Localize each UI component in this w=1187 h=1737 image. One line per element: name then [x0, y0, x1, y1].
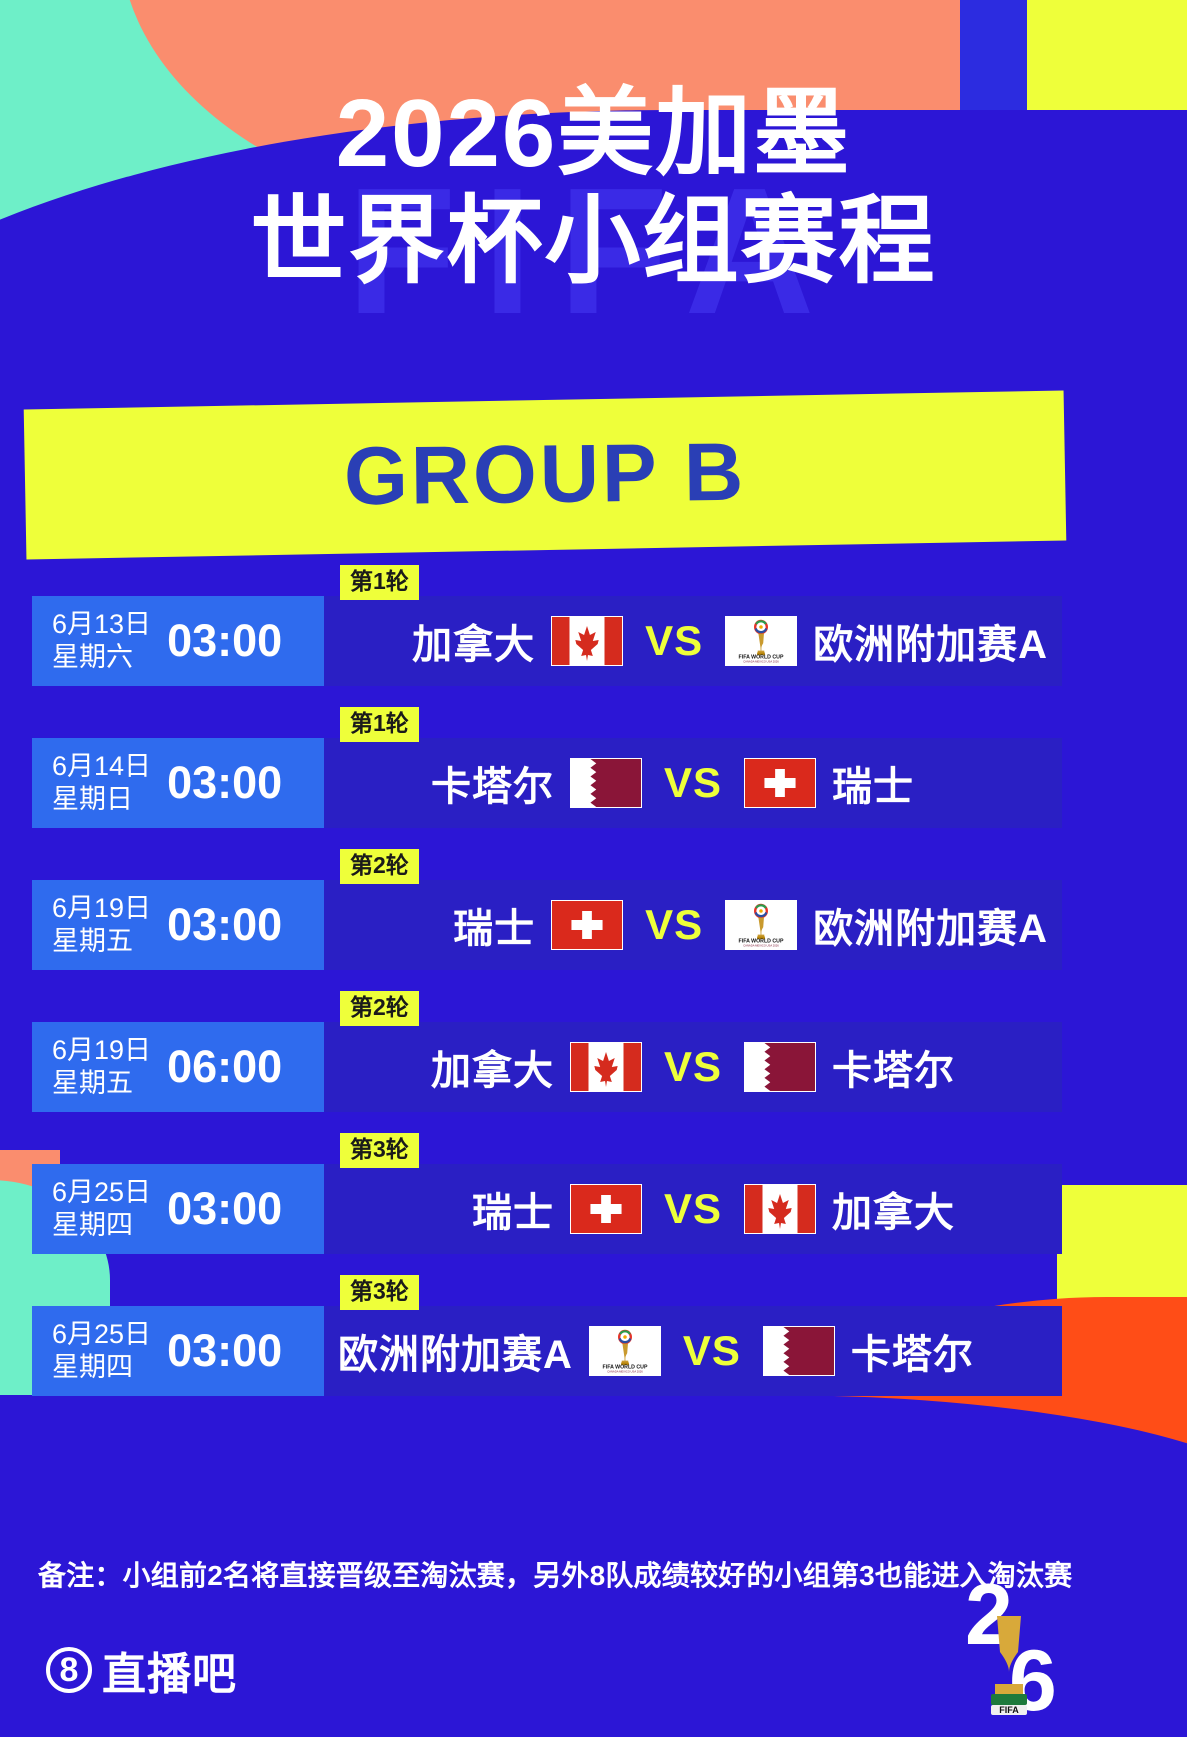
home-team-name: 欧洲附加赛A: [338, 1322, 573, 1380]
match-row[interactable]: 第3轮6月25日星期四03:00欧洲附加赛A FIFA WORLD CUP CA…: [32, 1276, 1062, 1396]
match-row-body: 6月19日星期五06:00加拿大 VS 卡塔尔: [32, 1022, 1062, 1112]
versus-label: VS: [683, 1327, 741, 1375]
match-date-weekday: 星期四: [52, 1209, 151, 1242]
match-datetime: 6月14日星期日03:00: [32, 738, 324, 828]
flag-fifa-worldcup-icon: FIFA WORLD CUP CANADA MEXICO USA 2026: [589, 1326, 661, 1376]
match-teams: 欧洲附加赛A FIFA WORLD CUP CANADA MEXICO USA …: [324, 1306, 1062, 1396]
match-date-day: 6月25日: [52, 1176, 151, 1209]
match-row-body: 6月25日星期四03:00瑞士 VS 加拿大: [32, 1164, 1062, 1254]
flag-switzerland-icon: [570, 1184, 642, 1234]
versus-label: VS: [645, 617, 703, 665]
match-date: 6月14日星期日: [52, 750, 151, 816]
match-date: 6月19日星期五: [52, 1034, 151, 1100]
match-teams: 卡塔尔 VS 瑞士: [324, 738, 1062, 828]
away-team-name: 卡塔尔: [851, 1322, 974, 1380]
match-time: 03:00: [167, 1325, 282, 1377]
match-date: 6月19日星期五: [52, 892, 151, 958]
home-team-name: 瑞士: [472, 1180, 554, 1238]
match-date: 6月13日星期六: [52, 608, 151, 674]
flag-fifa-worldcup-icon: FIFA WORLD CUP CANADA MEXICO USA 2026: [725, 900, 797, 950]
away-side: FIFA WORLD CUP CANADA MEXICO USA 2026 欧洲…: [725, 612, 1048, 670]
match-date-weekday: 星期四: [52, 1351, 151, 1384]
versus-label: VS: [645, 901, 703, 949]
flag-fifa-worldcup-icon: FIFA WORLD CUP CANADA MEXICO USA 2026: [725, 616, 797, 666]
brand-logo: 8 直播吧: [46, 1638, 237, 1702]
home-team-name: 卡塔尔: [431, 754, 554, 812]
match-date-weekday: 星期日: [52, 783, 151, 816]
match-date-weekday: 星期五: [52, 925, 151, 958]
match-row[interactable]: 第3轮6月25日星期四03:00瑞士 VS 加拿大: [32, 1134, 1062, 1254]
brand-name: 直播吧: [102, 1638, 237, 1702]
home-side: 卡塔尔: [338, 754, 642, 812]
flag-canada-icon: [551, 616, 623, 666]
away-side: 卡塔尔: [744, 1038, 1048, 1096]
match-teams: 瑞士 VS FIFA WORLD CUP CANADA MEXICO USA 2…: [324, 880, 1062, 970]
title-line-1: 2026美加墨: [0, 82, 1187, 186]
match-datetime: 6月19日星期五03:00: [32, 880, 324, 970]
away-side: 卡塔尔: [763, 1322, 1048, 1380]
qualification-note: 备注：小组前2名将直接晋级至淘汰赛，另外8队成绩较好的小组第3也能进入淘汰赛: [38, 1554, 1072, 1594]
match-date-weekday: 星期六: [52, 641, 151, 674]
flag-qatar-icon: [570, 758, 642, 808]
round-badge: 第2轮: [340, 849, 419, 884]
away-side: FIFA WORLD CUP CANADA MEXICO USA 2026 欧洲…: [725, 896, 1048, 954]
match-date-day: 6月25日: [52, 1318, 151, 1351]
match-date: 6月25日星期四: [52, 1176, 151, 1242]
away-team-name: 欧洲附加赛A: [813, 896, 1048, 954]
group-banner: GROUP B: [24, 390, 1067, 559]
flag-canada-icon: [570, 1042, 642, 1092]
match-date-day: 6月19日: [52, 1034, 151, 1067]
page-title: 2026美加墨 世界杯小组赛程: [0, 82, 1187, 298]
match-date-weekday: 星期五: [52, 1067, 151, 1100]
match-row-body: 6月19日星期五03:00瑞士 VS FIFA WORLD CUP CANADA…: [32, 880, 1062, 970]
away-side: 瑞士: [744, 754, 1048, 812]
round-badge: 第3轮: [340, 1275, 419, 1310]
match-date-day: 6月14日: [52, 750, 151, 783]
match-row[interactable]: 第2轮6月19日星期五03:00瑞士 VS FIFA WORLD CUP CAN…: [32, 850, 1062, 970]
match-row[interactable]: 第2轮6月19日星期五06:00加拿大 VS 卡塔尔: [32, 992, 1062, 1112]
match-teams: 加拿大 VS FIFA WORLD CUP CANADA MEXICO USA …: [324, 596, 1062, 686]
round-badge: 第2轮: [340, 991, 419, 1026]
home-team-name: 加拿大: [431, 1038, 554, 1096]
away-team-name: 加拿大: [832, 1180, 955, 1238]
brand-eight-icon: 8: [46, 1647, 92, 1693]
match-teams: 瑞士 VS 加拿大: [324, 1164, 1062, 1254]
match-date-day: 6月13日: [52, 608, 151, 641]
away-team-name: 卡塔尔: [832, 1038, 955, 1096]
match-datetime: 6月25日星期四03:00: [32, 1164, 324, 1254]
fifa-2026-emblem: 2 6 FIFA: [947, 1560, 1077, 1732]
group-label: GROUP B: [343, 426, 746, 525]
home-team-name: 加拿大: [412, 612, 535, 670]
round-badge: 第1轮: [340, 565, 419, 600]
svg-text:CANADA MEXICO USA 2026: CANADA MEXICO USA 2026: [607, 1370, 643, 1374]
match-schedule-list: 第1轮6月13日星期六03:00加拿大 VS FIFA WORLD CUP CA…: [32, 566, 1062, 1418]
svg-text:CANADA MEXICO USA 2026: CANADA MEXICO USA 2026: [743, 660, 779, 664]
match-teams: 加拿大 VS 卡塔尔: [324, 1022, 1062, 1112]
match-date-day: 6月19日: [52, 892, 151, 925]
home-side: 瑞士: [338, 1180, 642, 1238]
match-date: 6月25日星期四: [52, 1318, 151, 1384]
home-side: 加拿大: [338, 1038, 642, 1096]
flag-qatar-icon: [744, 1042, 816, 1092]
match-row-body: 6月25日星期四03:00欧洲附加赛A FIFA WORLD CUP CANAD…: [32, 1306, 1062, 1396]
versus-label: VS: [664, 1043, 722, 1091]
match-time: 03:00: [167, 1183, 282, 1235]
match-time: 03:00: [167, 899, 282, 951]
home-side: 瑞士: [338, 896, 623, 954]
match-row[interactable]: 第1轮6月14日星期日03:00卡塔尔 VS 瑞士: [32, 708, 1062, 828]
versus-label: VS: [664, 1185, 722, 1233]
home-side: 欧洲附加赛A FIFA WORLD CUP CANADA MEXICO USA …: [338, 1322, 661, 1380]
flag-qatar-icon: [763, 1326, 835, 1376]
round-badge: 第3轮: [340, 1133, 419, 1168]
home-side: 加拿大: [338, 612, 623, 670]
home-team-name: 瑞士: [453, 896, 535, 954]
title-line-2: 世界杯小组赛程: [0, 186, 1187, 298]
match-row-body: 6月14日星期日03:00卡塔尔 VS 瑞士: [32, 738, 1062, 828]
svg-text:FIFA: FIFA: [999, 1705, 1019, 1715]
match-datetime: 6月19日星期五06:00: [32, 1022, 324, 1112]
match-time: 03:00: [167, 757, 282, 809]
match-row[interactable]: 第1轮6月13日星期六03:00加拿大 VS FIFA WORLD CUP CA…: [32, 566, 1062, 686]
match-time: 06:00: [167, 1041, 282, 1093]
away-team-name: 瑞士: [832, 754, 914, 812]
versus-label: VS: [664, 759, 722, 807]
match-row-body: 6月13日星期六03:00加拿大 VS FIFA WORLD CUP CANAD…: [32, 596, 1062, 686]
match-time: 03:00: [167, 615, 282, 667]
match-datetime: 6月25日星期四03:00: [32, 1306, 324, 1396]
round-badge: 第1轮: [340, 707, 419, 742]
away-team-name: 欧洲附加赛A: [813, 612, 1048, 670]
flag-switzerland-icon: [744, 758, 816, 808]
svg-text:CANADA MEXICO USA 2026: CANADA MEXICO USA 2026: [743, 944, 779, 948]
flag-canada-icon: [744, 1184, 816, 1234]
away-side: 加拿大: [744, 1180, 1048, 1238]
match-datetime: 6月13日星期六03:00: [32, 596, 324, 686]
flag-switzerland-icon: [551, 900, 623, 950]
